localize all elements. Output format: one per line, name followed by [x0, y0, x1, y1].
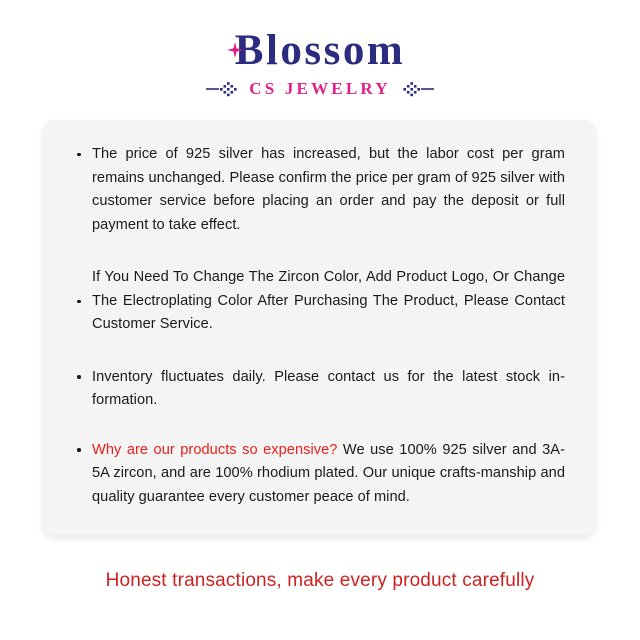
list-item: The price of 925 silver has increased, b…	[77, 143, 565, 237]
brand-name-row: Blossom	[235, 29, 405, 73]
brand-subtitle-row: CS JEWELRY	[206, 78, 433, 100]
bullet-point-icon	[77, 448, 81, 452]
flourish-ornament-left-icon	[206, 81, 240, 97]
list-item: Why are our products so expensive? We us…	[77, 439, 565, 510]
bullet-point-icon	[77, 300, 81, 304]
list-item: If You Need To Change The Zircon Color, …	[77, 266, 565, 337]
bullet-point-icon	[77, 153, 81, 157]
bullet-highlight-text: Why are our products so expensive?	[92, 442, 337, 458]
list-item: Inventory fluctuates daily. Please conta…	[77, 366, 565, 413]
notice-bullet-list: The price of 925 silver has increased, b…	[77, 143, 565, 509]
bullet-text-group: Why are our products so expensive? We us…	[92, 439, 565, 510]
bullet-point-icon	[77, 375, 81, 379]
sparkle-diamond-icon	[227, 42, 243, 58]
bullet-text: If You Need To Change The Zircon Color, …	[92, 266, 565, 337]
brand-subtitle: CS JEWELRY	[249, 80, 390, 98]
flourish-ornament-right-icon	[400, 81, 434, 97]
brand-header: Blossom CS JEWELRY	[0, 0, 640, 118]
bullet-text: The price of 925 silver has increased, b…	[92, 143, 565, 237]
notice-card: The price of 925 silver has increased, b…	[43, 120, 595, 535]
brand-name: Blossom	[235, 29, 405, 73]
footer-tagline: Honest transactions, make every product …	[0, 568, 640, 594]
bullet-text: Inventory fluctuates daily. Please conta…	[92, 366, 565, 413]
